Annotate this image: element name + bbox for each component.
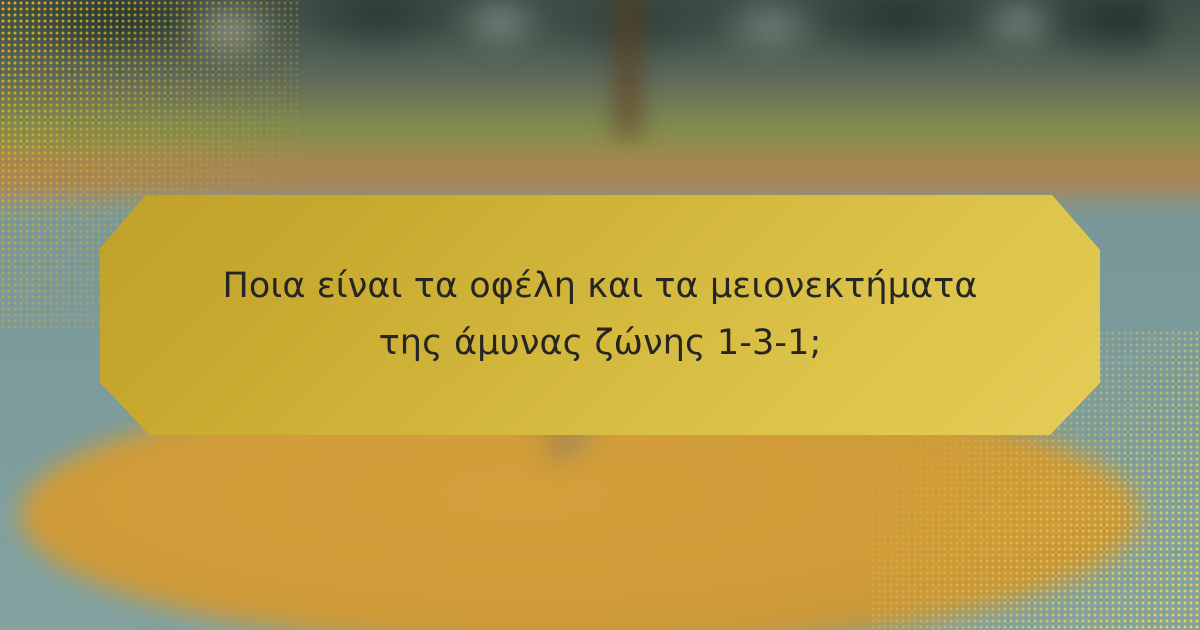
- quote-text: Ποια είναι τα οφέλη και τα μειονεκτήματα…: [152, 258, 1047, 371]
- quote-card: Ποια είναι τα οφέλη και τα μειονεκτήματα…: [100, 195, 1100, 435]
- quote-card-canvas: Ποια είναι τα οφέλη και τα μειονεκτήματα…: [0, 0, 1200, 630]
- background-dirt-band: [0, 152, 1200, 200]
- background-tree-trunk: [615, 0, 641, 138]
- background-window-highlights: [0, 0, 1160, 100]
